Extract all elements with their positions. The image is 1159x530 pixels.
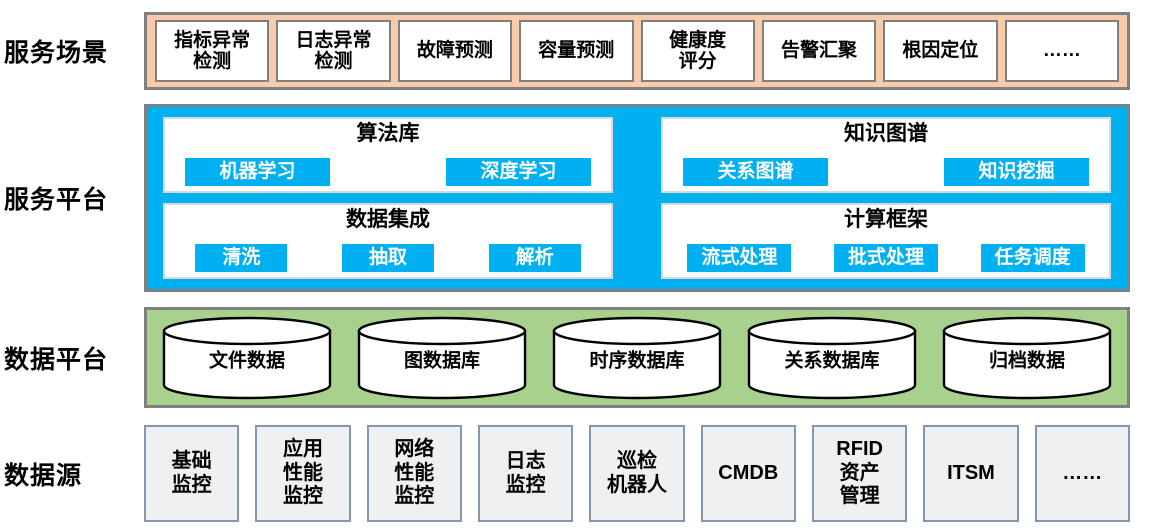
chip-relation-graph[interactable]: 关系图谱 bbox=[683, 158, 828, 186]
chip-row: 流式处理 批式处理 任务调度 bbox=[663, 244, 1109, 272]
source-box-inspection-robot[interactable]: 巡检 机器人 bbox=[589, 425, 684, 522]
service-scenario-band: 指标异常 检测 日志异常 检测 故障预测 容量预测 健康度 评分 告警汇聚 根因… bbox=[144, 12, 1130, 90]
panel-title: 计算框架 bbox=[844, 208, 928, 231]
row-data-platform: 数据平台 文件数据 图数据库 bbox=[0, 307, 1159, 408]
platform-grid-bottom: 数据集成 清洗 抽取 解析 计算框架 流式处理 批式处理 任务调度 bbox=[163, 203, 1111, 279]
panel-knowledge-graph[interactable]: 知识图谱 关系图谱 知识挖掘 bbox=[661, 117, 1111, 193]
row-data-source: 数据源 基础 监控 应用 性能 监控 网络 性能 监控 日志 监控 巡检 机器人… bbox=[0, 425, 1159, 522]
cylinder-label: 文件数据 bbox=[161, 346, 333, 373]
database-cylinder-graph-db[interactable]: 图数据库 bbox=[356, 315, 528, 401]
source-box-infrastructure-monitoring[interactable]: 基础 监控 bbox=[144, 425, 239, 522]
platform-grid-top: 算法库 机器学习 深度学习 知识图谱 关系图谱 知识挖掘 bbox=[163, 117, 1111, 193]
row-label-service-platform: 服务平台 bbox=[0, 180, 144, 216]
cylinder-label: 关系数据库 bbox=[746, 346, 918, 373]
row-label-service-scenario: 服务场景 bbox=[0, 33, 144, 69]
scenario-box[interactable]: 故障预测 bbox=[398, 20, 512, 82]
panel-algorithm-library[interactable]: 算法库 机器学习 深度学习 bbox=[163, 117, 613, 193]
source-box-log-monitoring[interactable]: 日志 监控 bbox=[478, 425, 573, 522]
source-box-apm[interactable]: 应用 性能 监控 bbox=[255, 425, 350, 522]
source-box-itsm[interactable]: ITSM bbox=[923, 425, 1018, 522]
chip-stream-processing[interactable]: 流式处理 bbox=[687, 244, 791, 272]
scenario-box[interactable]: 告警汇聚 bbox=[762, 20, 876, 82]
row-service-platform: 服务平台 算法库 机器学习 深度学习 知识图谱 关系图谱 知识挖掘 bbox=[0, 104, 1159, 292]
chip-row: 清洗 抽取 解析 bbox=[165, 244, 611, 272]
panel-title: 知识图谱 bbox=[844, 122, 928, 145]
row-label-data-platform: 数据平台 bbox=[0, 340, 144, 376]
chip-batch-processing[interactable]: 批式处理 bbox=[834, 244, 938, 272]
chip-deep-learning[interactable]: 深度学习 bbox=[446, 158, 591, 186]
row-service-scenario: 服务场景 指标异常 检测 日志异常 检测 故障预测 容量预测 健康度 评分 告警… bbox=[0, 12, 1159, 90]
source-box-cmdb[interactable]: CMDB bbox=[701, 425, 796, 522]
database-cylinder-relational-db[interactable]: 关系数据库 bbox=[746, 315, 918, 401]
data-platform-band: 文件数据 图数据库 时序数据库 bbox=[144, 307, 1130, 408]
source-box-npm[interactable]: 网络 性能 监控 bbox=[367, 425, 462, 522]
database-cylinder-file-data[interactable]: 文件数据 bbox=[161, 315, 333, 401]
source-box-ellipsis[interactable]: …… bbox=[1035, 425, 1130, 522]
scenario-box-ellipsis[interactable]: …… bbox=[1005, 20, 1119, 82]
panel-data-integration[interactable]: 数据集成 清洗 抽取 解析 bbox=[163, 203, 613, 279]
cylinder-label: 图数据库 bbox=[356, 346, 528, 373]
architecture-diagram: 服务场景 指标异常 检测 日志异常 检测 故障预测 容量预测 健康度 评分 告警… bbox=[0, 0, 1159, 530]
database-cylinder-timeseries-db[interactable]: 时序数据库 bbox=[551, 315, 723, 401]
row-label-data-source: 数据源 bbox=[0, 456, 144, 492]
cylinder-label: 归档数据 bbox=[941, 346, 1113, 373]
chip-cleaning[interactable]: 清洗 bbox=[195, 244, 287, 272]
scenario-box[interactable]: 健康度 评分 bbox=[641, 20, 755, 82]
scenario-box[interactable]: 容量预测 bbox=[519, 20, 633, 82]
chip-parsing[interactable]: 解析 bbox=[489, 244, 581, 272]
panel-title: 数据集成 bbox=[346, 208, 430, 231]
service-platform-band: 算法库 机器学习 深度学习 知识图谱 关系图谱 知识挖掘 数据集成 bbox=[144, 104, 1130, 292]
chip-row: 关系图谱 知识挖掘 bbox=[663, 158, 1109, 186]
scenario-box[interactable]: 根因定位 bbox=[883, 20, 997, 82]
database-cylinder-archive-data[interactable]: 归档数据 bbox=[941, 315, 1113, 401]
panel-compute-framework[interactable]: 计算框架 流式处理 批式处理 任务调度 bbox=[661, 203, 1111, 279]
chip-machine-learning[interactable]: 机器学习 bbox=[185, 158, 330, 186]
chip-row: 机器学习 深度学习 bbox=[165, 158, 611, 186]
scenario-box[interactable]: 指标异常 检测 bbox=[155, 20, 269, 82]
scenario-box[interactable]: 日志异常 检测 bbox=[276, 20, 390, 82]
data-source-list: 基础 监控 应用 性能 监控 网络 性能 监控 日志 监控 巡检 机器人 CMD… bbox=[144, 425, 1130, 522]
cylinder-label: 时序数据库 bbox=[551, 346, 723, 373]
source-box-rfid-asset-management[interactable]: RFID 资产 管理 bbox=[812, 425, 907, 522]
chip-extraction[interactable]: 抽取 bbox=[342, 244, 434, 272]
chip-knowledge-mining[interactable]: 知识挖掘 bbox=[944, 158, 1089, 186]
panel-title: 算法库 bbox=[357, 122, 420, 145]
chip-task-scheduling[interactable]: 任务调度 bbox=[981, 244, 1085, 272]
